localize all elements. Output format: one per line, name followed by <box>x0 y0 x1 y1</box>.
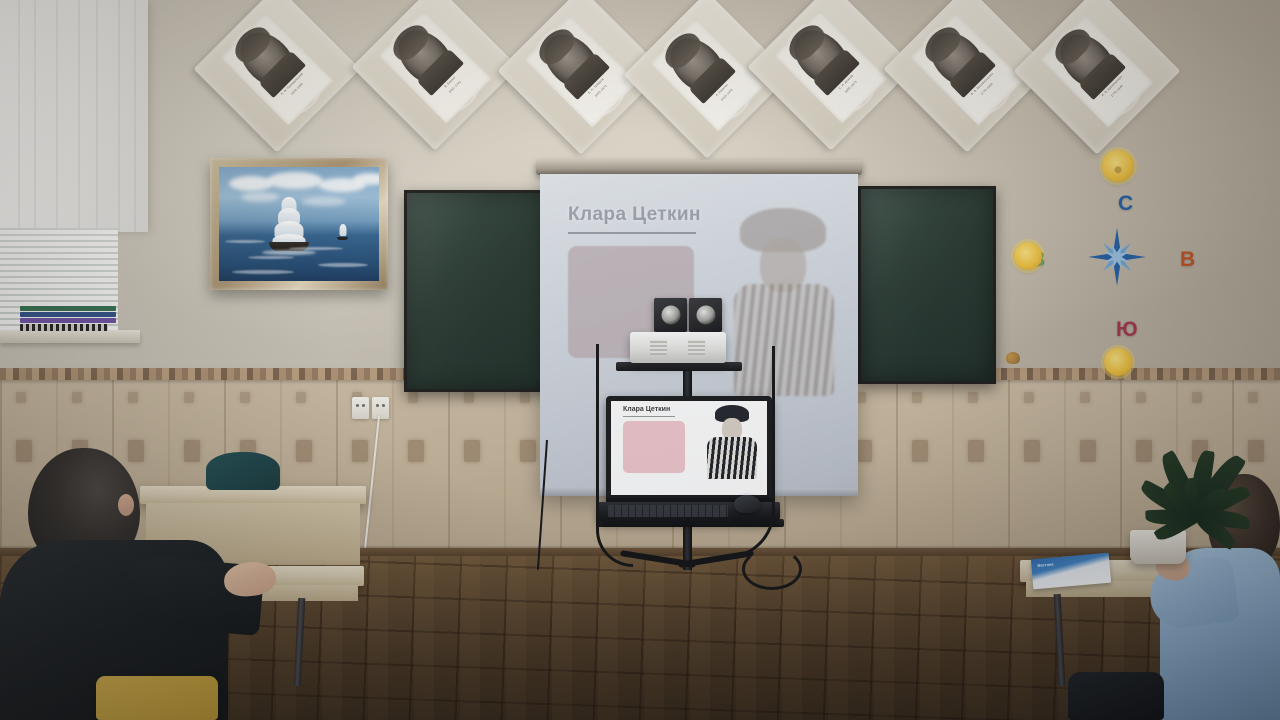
chalkboard-left <box>404 190 556 392</box>
sun-decoration-top <box>1102 150 1134 182</box>
chair-yellow[interactable] <box>96 676 218 720</box>
student-left-ear <box>118 494 134 516</box>
classroom-photo: Н. М. Пржевальский1839–1888В. Беринг1681… <box>0 0 1280 720</box>
wallpaper-motif <box>296 440 312 462</box>
curtain-fold <box>56 0 58 232</box>
wallpaper-motif <box>912 392 922 403</box>
wallpaper-motif <box>408 392 418 403</box>
wallpaper-motif <box>184 392 194 403</box>
wallpaper-motif <box>240 392 250 403</box>
speaker-right <box>689 298 722 332</box>
projector <box>630 332 726 363</box>
portrait-plaque: В. Беринг1681–1741 <box>376 8 494 126</box>
curtain-fold <box>134 0 136 232</box>
windowsill-notebooks <box>20 306 116 332</box>
compass-south-label: Ю <box>1116 318 1138 342</box>
butterfly-decoration <box>1006 352 1020 364</box>
compass-east-label: В <box>1180 248 1195 272</box>
curtain-fold <box>34 0 36 232</box>
wallpaper-motif <box>1080 440 1096 462</box>
ship-painting-canvas <box>219 167 379 281</box>
speaker-left <box>654 298 687 332</box>
portrait-plaque: Н. М. Пржевальский1839–1888 <box>218 10 336 128</box>
curtain-fold <box>96 0 98 232</box>
wallpaper-motif <box>856 440 872 462</box>
wallpaper-motif <box>408 440 424 462</box>
chalkboard-right <box>858 186 996 384</box>
wallpaper-motif <box>464 392 474 403</box>
projector-shelf <box>616 362 742 371</box>
cable-floor-coil <box>742 548 802 590</box>
curtain-fold <box>78 0 80 232</box>
wallpaper-motif <box>968 440 984 462</box>
portrait-plaque-row: Н. М. Пржевальский1839–1888В. Беринг1681… <box>0 0 1280 124</box>
wallpaper-motif <box>520 392 530 403</box>
wallpaper-motif <box>1024 440 1040 462</box>
portrait-plaque: А. Никитин1433–1472 <box>648 16 766 134</box>
wallpaper-motif <box>16 392 26 403</box>
tall-ship <box>266 197 312 255</box>
portrait-plaque: И. Ф. Крузенштерн1770–1846 <box>1038 12 1156 130</box>
compass-rose-icon <box>1088 228 1146 286</box>
cable-projector-right <box>726 346 775 559</box>
wallpaper-motif <box>968 392 978 403</box>
projected-slide-rule <box>568 232 696 234</box>
compass-north-label: С <box>1118 192 1133 216</box>
wallpaper-motif <box>1024 392 1034 403</box>
portrait-plaque: Ф. Ф. Беллинсгаузен1778–1852 <box>908 10 1026 128</box>
window-curtain <box>0 0 148 232</box>
wallpaper-motif <box>16 440 32 462</box>
wallpaper-motif <box>184 440 200 462</box>
houseplant <box>1118 396 1268 536</box>
wallpaper-motif <box>1080 392 1090 403</box>
sun-decoration-left <box>1014 242 1042 270</box>
wallpaper-motif <box>352 440 368 462</box>
curtain-fold <box>18 0 20 232</box>
projected-slide-title: Клара Цеткин <box>568 204 701 226</box>
portrait-plaque: С. И. Дежнёв1605–1673 <box>772 8 890 126</box>
screen-roller-casing <box>536 160 862 175</box>
ship-painting-frame <box>210 158 388 290</box>
booklet-title: Вестник <box>1037 562 1053 568</box>
cable-projector-left <box>596 344 633 567</box>
small-sailboat <box>337 224 348 240</box>
wallpaper-motif <box>520 440 536 462</box>
curtain-fold <box>118 0 120 232</box>
wall-outlet-left[interactable] <box>352 397 369 419</box>
student-right-bag <box>1068 672 1164 720</box>
wallpaper-motif <box>464 440 480 462</box>
portrait-plaque: Е. П. Хабаров1603–1671 <box>522 12 640 130</box>
wallpaper-motif <box>912 440 928 462</box>
wallpaper-motif <box>128 440 144 462</box>
wallpaper-motif <box>72 392 82 403</box>
chair-teal[interactable] <box>206 452 280 490</box>
wall-outlet-right[interactable] <box>372 397 389 419</box>
wallpaper-motif <box>128 392 138 403</box>
sun-decoration-bottom <box>1104 348 1132 376</box>
wallpaper-motif <box>296 392 306 403</box>
